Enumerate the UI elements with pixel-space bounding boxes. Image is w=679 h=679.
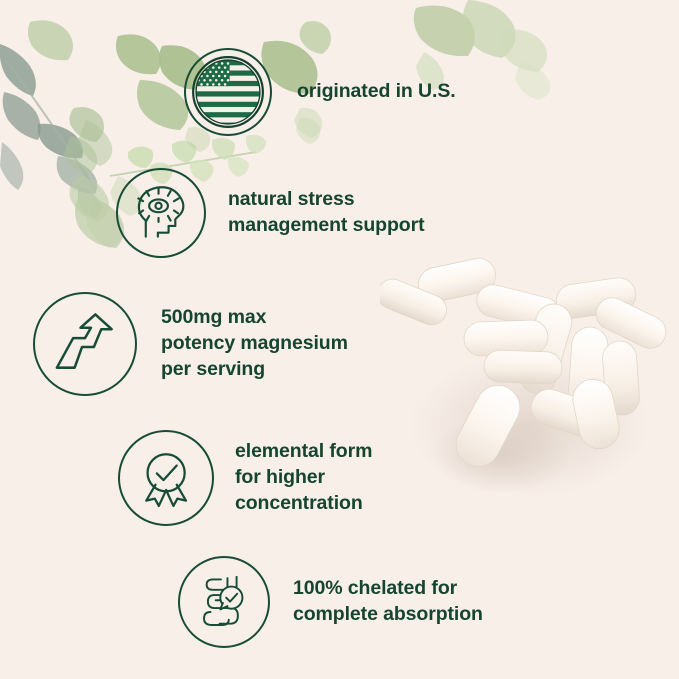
feature-row: natural stress management support [116, 168, 424, 258]
award-badge-icon [118, 430, 214, 526]
feature-label: originated in U.S. [297, 79, 456, 105]
upward-arrow-icon [33, 292, 137, 396]
intestine-icon [178, 556, 270, 648]
feature-label: natural stress management support [228, 187, 424, 239]
feature-label: elemental form for higher concentration [235, 439, 372, 517]
feature-row: 100% chelated for complete absorption [178, 556, 483, 648]
product-infographic: originated in U.S. [0, 0, 679, 679]
us-flag-icon [184, 48, 272, 136]
feature-row: elemental form for higher concentration [118, 430, 372, 526]
feature-label: 500mg max potency magnesium per serving [161, 305, 348, 383]
feature-row: originated in U.S. [184, 48, 456, 136]
feature-label: 100% chelated for complete absorption [293, 576, 483, 628]
head-mind-icon [116, 168, 206, 258]
white-capsules-pile [380, 255, 679, 515]
feature-row: 500mg max potency magnesium per serving [33, 292, 348, 396]
